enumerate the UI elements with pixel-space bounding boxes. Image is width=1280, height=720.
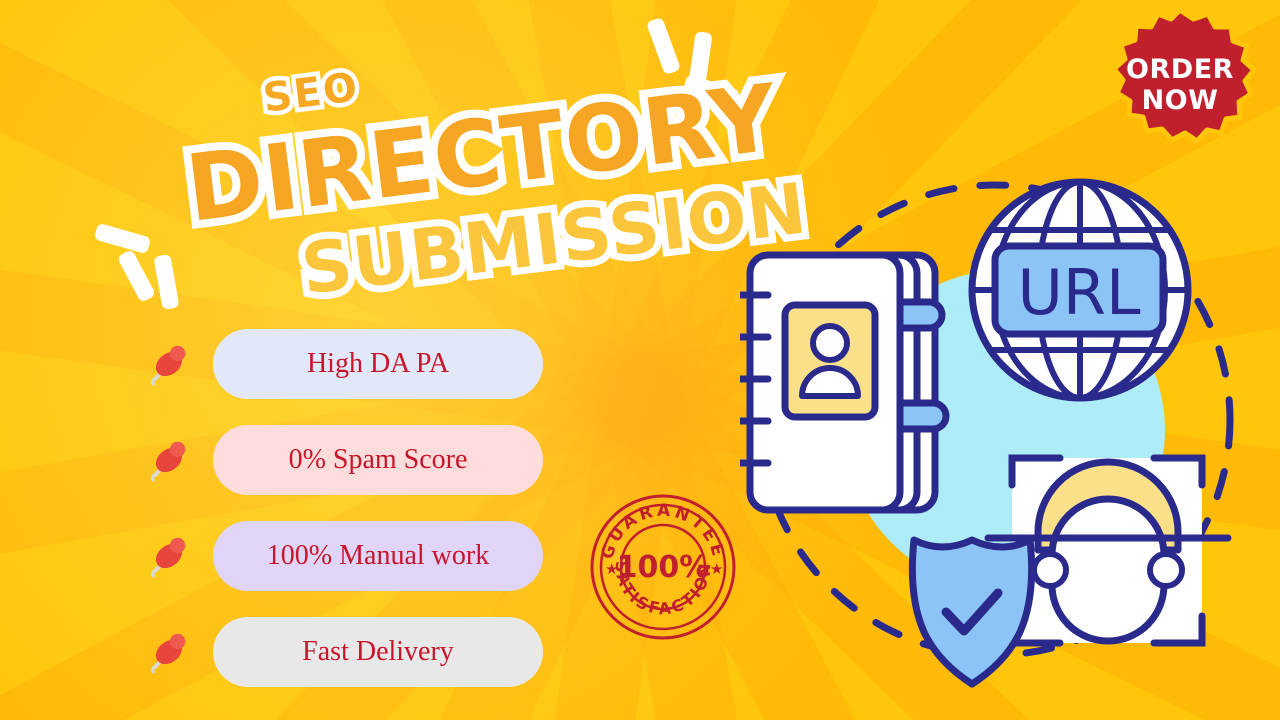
feature-pill: Fast Delivery [213,617,543,687]
pushpin-icon [145,629,191,675]
list-item: 0% Spam Score [145,424,543,496]
feature-pill: High DA PA [213,329,543,399]
promo-banner: SEO DIRECTORY SUBMISSION High DA PA [0,0,1280,720]
stamp-star-right: ★ [710,561,723,578]
globe-url-label: URL [1017,256,1140,329]
illustration: URL [740,150,1240,690]
order-badge-line-1: ORDER [1126,55,1234,85]
stamp-star-left: ★ [605,561,618,578]
page-title: SEO DIRECTORY SUBMISSION [185,38,805,288]
feature-label: High DA PA [307,348,449,380]
feature-pill: 0% Spam Score [213,425,543,495]
guarantee-stamp: GUARANTEE SATISFACTION 100% ★ ★ [588,492,738,642]
feature-label: 0% Spam Score [289,444,468,476]
list-item: High DA PA [145,328,543,400]
order-now-badge[interactable]: ORDER NOW [1090,8,1270,163]
order-badge-line-2: NOW [1142,86,1219,116]
feature-label: 100% Manual work [267,540,489,572]
globe-url-icon: URL [972,182,1188,398]
stamp-center-value: 100% [617,550,710,585]
pushpin-icon [145,341,191,387]
list-item: 100% Manual work [145,520,543,592]
feature-pill: 100% Manual work [213,521,543,591]
list-item: Fast Delivery [145,616,543,688]
contact-book-icon [740,255,946,510]
pushpin-icon [145,533,191,579]
pushpin-icon [145,437,191,483]
title-eyebrow: SEO [261,64,362,121]
feature-label: Fast Delivery [302,636,454,668]
shield-check-icon [912,540,1031,684]
feature-list: High DA PA 0% Spam Score [145,328,543,712]
